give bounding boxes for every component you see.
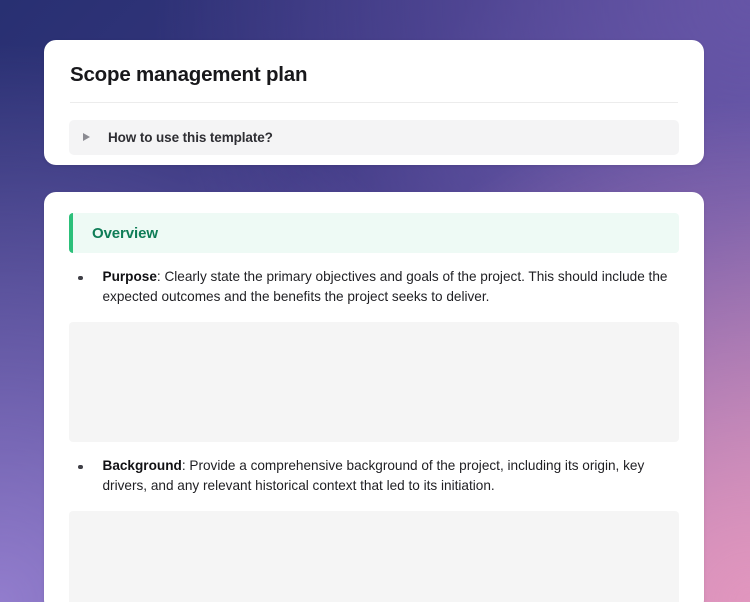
title-card: Scope management plan How to use this te… bbox=[44, 40, 704, 165]
list-item-text: Purpose: Clearly state the primary objec… bbox=[103, 267, 680, 307]
list-item-body: Clearly state the primary objectives and… bbox=[103, 269, 668, 304]
section-title: Overview bbox=[69, 225, 158, 242]
collapsible-label: How to use this template? bbox=[108, 130, 273, 145]
bullet-dot-icon bbox=[78, 276, 83, 281]
content-placeholder-block[interactable] bbox=[69, 322, 679, 442]
list-item-lead: Background bbox=[103, 458, 182, 473]
page-title: Scope management plan bbox=[44, 40, 704, 89]
triangle-right-icon[interactable] bbox=[83, 133, 90, 141]
section-accent-bar bbox=[69, 213, 73, 253]
list-item: Background: Provide a comprehensive back… bbox=[69, 456, 679, 496]
list-item: Purpose: Clearly state the primary objec… bbox=[69, 267, 679, 307]
list-item-lead: Purpose bbox=[103, 269, 157, 284]
bullet-dot-icon bbox=[78, 465, 83, 470]
collapsible-how-to-use[interactable]: How to use this template? bbox=[69, 120, 679, 155]
overview-section-header: Overview bbox=[69, 213, 679, 253]
page-root: Scope management plan How to use this te… bbox=[0, 0, 750, 602]
overview-card: Overview Purpose: Clearly state the prim… bbox=[44, 192, 704, 602]
list-item-text: Background: Provide a comprehensive back… bbox=[103, 456, 680, 496]
title-divider bbox=[70, 102, 678, 103]
content-placeholder-block[interactable] bbox=[69, 511, 679, 602]
